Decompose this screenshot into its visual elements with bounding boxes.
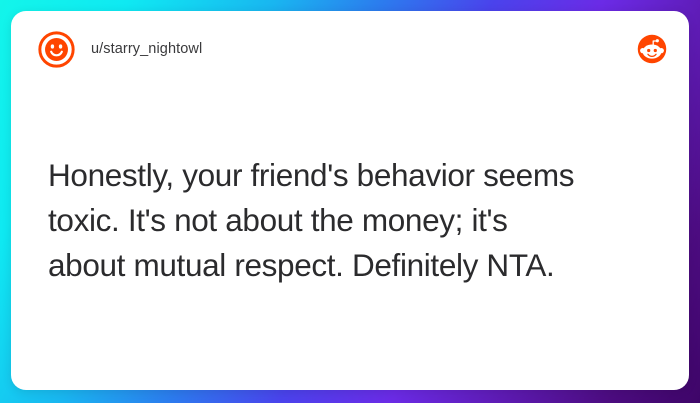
username-label: u/starry_nightowl: [91, 41, 202, 57]
comment-line: about mutual respect. Definitely NTA.: [48, 243, 659, 288]
comment-line: Honestly, your friend's behavior seems: [48, 153, 659, 198]
comment-body: Honestly, your friend's behavior seems t…: [48, 153, 659, 288]
reddit-snoo-logo-icon[interactable]: [637, 34, 667, 64]
smiley-face-avatar-icon[interactable]: [38, 31, 75, 68]
card-header: u/starry_nightowl: [11, 11, 689, 87]
comment-line: toxic. It's not about the money; it's: [48, 198, 659, 243]
reddit-comment-card: u/starry_nightowl Honestly, your friend'…: [11, 11, 689, 390]
